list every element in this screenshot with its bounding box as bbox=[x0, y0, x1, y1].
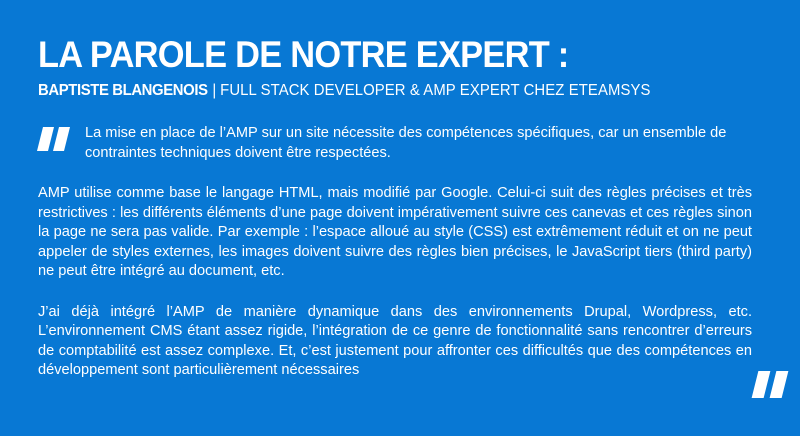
byline-separator: | bbox=[208, 82, 221, 99]
author-byline: BAPTISTE BLANGENOIS|FULL STACK DEVELOPER… bbox=[38, 82, 733, 99]
lead-quote-block: La mise en place de l’AMP sur un site né… bbox=[38, 124, 752, 163]
lead-paragraph: La mise en place de l’AMP sur un site né… bbox=[85, 124, 752, 163]
quote-open-icon bbox=[38, 127, 72, 151]
body-paragraph-2: J’ai déjà intégré l’AMP de manière dynam… bbox=[38, 303, 752, 381]
poster-header: LA PAROLE DE NOTRE EXPERT : BAPTISTE BLA… bbox=[38, 36, 762, 99]
quote-content: La mise en place de l’AMP sur un site né… bbox=[38, 124, 752, 381]
author-role: FULL STACK DEVELOPER & AMP EXPERT CHEZ E… bbox=[220, 82, 650, 99]
double-slash-glyph bbox=[753, 371, 791, 398]
page-title: LA PAROLE DE NOTRE EXPERT : bbox=[38, 36, 711, 73]
expert-quote-poster: LA PAROLE DE NOTRE EXPERT : BAPTISTE BLA… bbox=[0, 0, 800, 436]
body-paragraph-1: AMP utilise comme base le langage HTML, … bbox=[38, 184, 752, 282]
author-name: BAPTISTE BLANGENOIS bbox=[38, 82, 208, 99]
double-slash-glyph bbox=[38, 127, 72, 151]
quote-close-icon bbox=[753, 371, 791, 398]
